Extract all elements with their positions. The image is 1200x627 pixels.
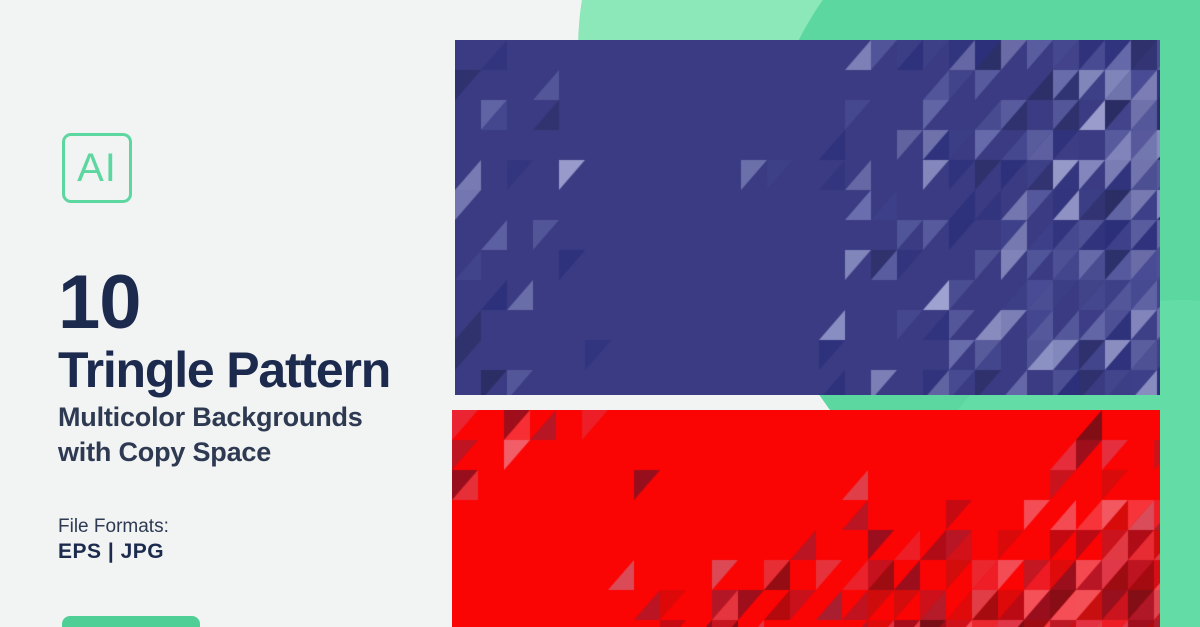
page-title: Tringle Pattern [58,345,390,395]
file-formats-value: EPS | JPG [58,541,164,562]
item-count: 10 [58,265,141,341]
red-pattern-canvas [452,410,1160,627]
subtitle-line-1: Multicolor Backgrounds [58,400,363,435]
blue-pattern-canvas [455,40,1160,395]
preview-blue-triangle-pattern[interactable] [455,40,1160,395]
ai-badge-label: AI [77,148,117,188]
cta-button[interactable] [62,616,200,627]
poster-stage: AI 10 Tringle Pattern Multicolor Backgro… [0,0,1200,627]
preview-red-triangle-pattern[interactable] [452,410,1160,627]
info-column: AI 10 Tringle Pattern Multicolor Backgro… [0,0,452,627]
page-subtitle: Multicolor Backgrounds with Copy Space [58,400,363,469]
ai-file-icon: AI [62,133,132,203]
file-formats-label: File Formats: [58,517,169,536]
subtitle-line-2: with Copy Space [58,435,363,470]
